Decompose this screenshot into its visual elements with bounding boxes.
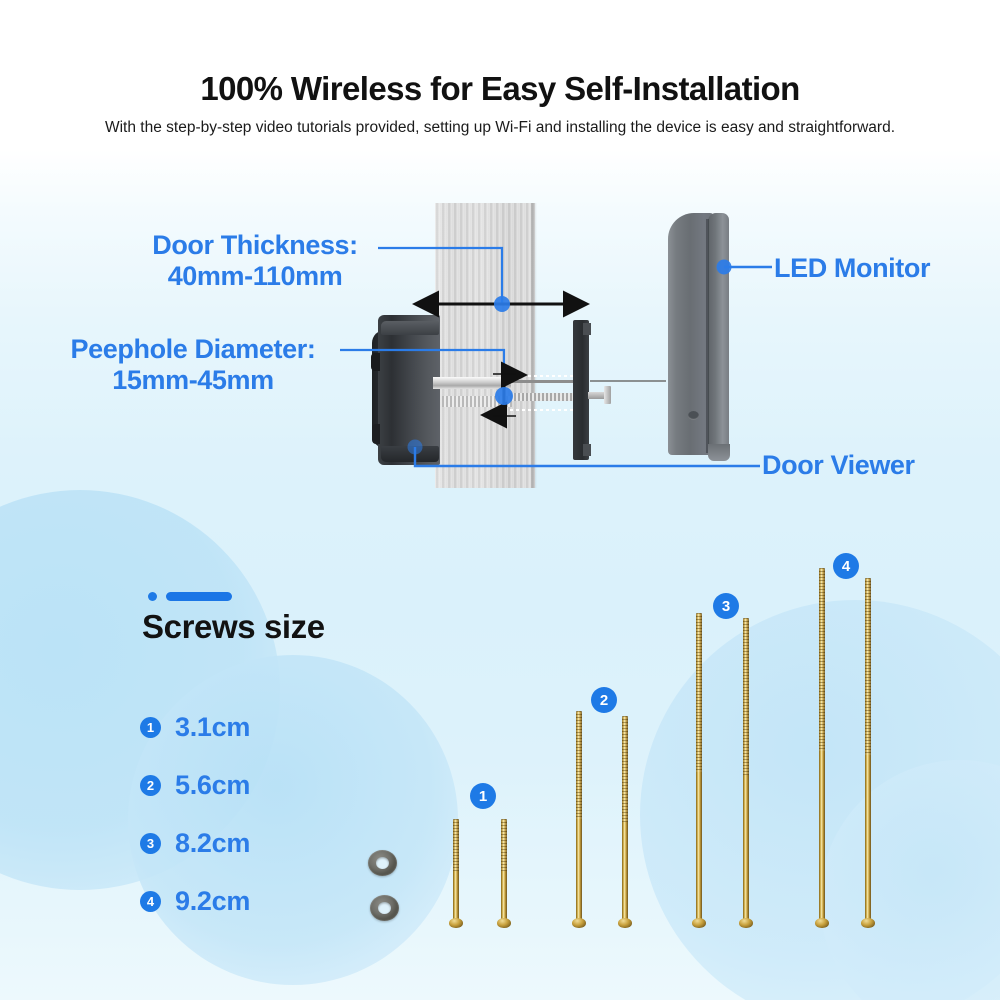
list-item: 1 3.1cm: [140, 712, 250, 743]
screw-group-badge-2: 2: [591, 687, 617, 713]
section-marker: [148, 592, 232, 601]
screw-head: [497, 918, 511, 928]
led-monitor-seam: [706, 219, 709, 453]
legend-badge-2: 2: [140, 775, 161, 796]
screw-shaft: [819, 568, 825, 919]
callout-peephole-value: 15mm-45mm: [38, 365, 348, 396]
led-monitor-front-shell: [708, 213, 729, 459]
washer-top: [368, 850, 397, 876]
callout-door-thickness: Door Thickness: 40mm-110mm: [120, 230, 390, 292]
mounting-plate-tab-top: [583, 323, 591, 335]
callout-door-viewer: Door Viewer: [762, 450, 915, 481]
screw-shaft: [453, 819, 459, 919]
callout-door-thickness-label: Door Thickness:: [120, 230, 390, 261]
screw-head: [449, 918, 463, 928]
screw-head: [618, 918, 632, 928]
screw-2a: [575, 711, 583, 928]
mounting-plate-tab-bottom: [583, 444, 591, 456]
screw-head: [861, 918, 875, 928]
section-title-screws-size: Screws size: [142, 608, 325, 646]
callout-led-monitor: LED Monitor: [774, 253, 930, 284]
screw-head: [815, 918, 829, 928]
screw-2b: [621, 716, 629, 928]
legend-length-1: 3.1cm: [175, 712, 250, 743]
header-block: 100% Wireless for Easy Self-Installation…: [0, 70, 1000, 137]
screw-group-badge-1: 1: [470, 783, 496, 809]
screw-4b: [864, 578, 872, 928]
led-monitor-device: [668, 213, 730, 455]
door-viewer-top-ring: [381, 321, 439, 335]
fixing-screw-head: [604, 386, 611, 404]
section-marker-dot: [148, 592, 157, 601]
screw-3a: [695, 613, 703, 928]
screw-1a: [452, 819, 460, 928]
door-edge-shadow: [531, 203, 537, 488]
decorative-bubble-right-small: [820, 760, 1000, 1000]
screws-size-legend: 1 3.1cm 2 5.6cm 3 8.2cm 4 9.2cm: [140, 712, 250, 917]
screw-head: [739, 918, 753, 928]
page-title: 100% Wireless for Easy Self-Installation: [0, 70, 1000, 108]
screw-shaft: [743, 618, 749, 919]
legend-length-3: 8.2cm: [175, 828, 250, 859]
screw-group-badge-4: 4: [833, 553, 859, 579]
screw-head: [692, 918, 706, 928]
led-monitor-screw-hole: [688, 411, 699, 420]
led-monitor-base: [708, 444, 730, 461]
screw-group-badge-3: 3: [713, 593, 739, 619]
door-viewer-side-nub-top: [371, 353, 380, 371]
screw-3b: [742, 618, 750, 928]
peephole-barrel-threaded: [442, 396, 512, 407]
legend-length-4: 9.2cm: [175, 886, 250, 917]
door-panel-illustration: [435, 203, 535, 488]
section-marker-dash: [166, 592, 232, 601]
screw-shaft: [622, 716, 628, 919]
page-subtitle: With the step-by-step video tutorials pr…: [0, 119, 1000, 137]
callout-peephole-diameter: Peephole Diameter: 15mm-45mm: [38, 334, 348, 396]
list-item: 3 8.2cm: [140, 828, 250, 859]
washer-bottom: [370, 895, 399, 921]
screw-shaft: [501, 819, 507, 919]
screw-shaft: [696, 613, 702, 919]
infographic-canvas: 100% Wireless for Easy Self-Installation…: [0, 0, 1000, 1000]
door-viewer-side-nub-bottom: [372, 424, 380, 444]
screw-1b: [500, 819, 508, 928]
legend-length-2: 5.6cm: [175, 770, 250, 801]
callout-door-thickness-value: 40mm-110mm: [120, 261, 390, 292]
screw-shaft: [865, 578, 871, 919]
door-viewer-body: [378, 315, 440, 465]
peephole-barrel-upper: [433, 377, 511, 389]
list-item: 2 5.6cm: [140, 770, 250, 801]
callout-peephole-label: Peephole Diameter:: [38, 334, 348, 365]
door-viewer-bottom-ring: [381, 446, 439, 462]
screw-head: [572, 918, 586, 928]
legend-badge-4: 4: [140, 891, 161, 912]
mounting-plate: [573, 320, 589, 460]
legend-badge-1: 1: [140, 717, 161, 738]
screw-shaft: [576, 711, 582, 919]
legend-badge-3: 3: [140, 833, 161, 854]
screw-4a: [818, 568, 826, 928]
list-item: 4 9.2cm: [140, 886, 250, 917]
